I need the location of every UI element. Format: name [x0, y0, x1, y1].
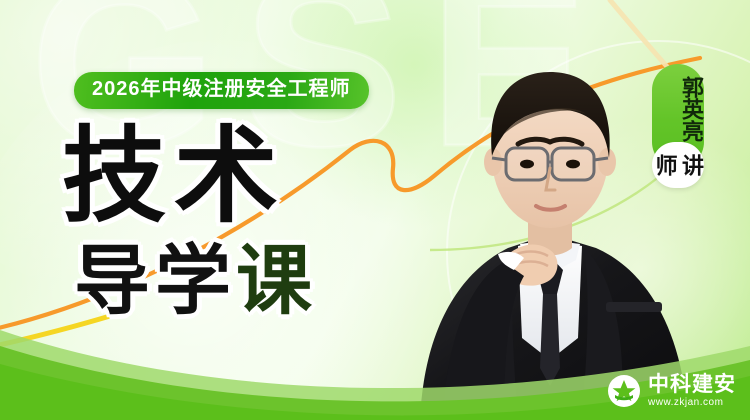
- zkjan-logo-icon: [607, 374, 641, 408]
- course-subtitle-badge: 2026年中级注册安全工程师: [74, 72, 369, 109]
- brand-name: 中科建安: [648, 374, 736, 395]
- course-title-main: 技术: [62, 128, 392, 228]
- course-title-block: 技术 导学课: [62, 128, 392, 320]
- course-title-sub-lead: 导学: [74, 239, 236, 324]
- brand-logo-text: 中科建安 www.zkjan.com: [648, 374, 736, 408]
- course-title-sub-accent: 课: [236, 239, 317, 324]
- instructor-tag-group: 郭英亮 讲师: [652, 64, 704, 168]
- brand-logo[interactable]: 中科建安 www.zkjan.com: [607, 374, 736, 408]
- background-ring: [446, 40, 750, 420]
- course-cover-banner: GSE: [0, 0, 750, 420]
- brand-url: www.zkjan.com: [648, 398, 736, 408]
- course-title-sub: 导学课: [74, 244, 392, 320]
- instructor-role: 讲师: [652, 142, 704, 188]
